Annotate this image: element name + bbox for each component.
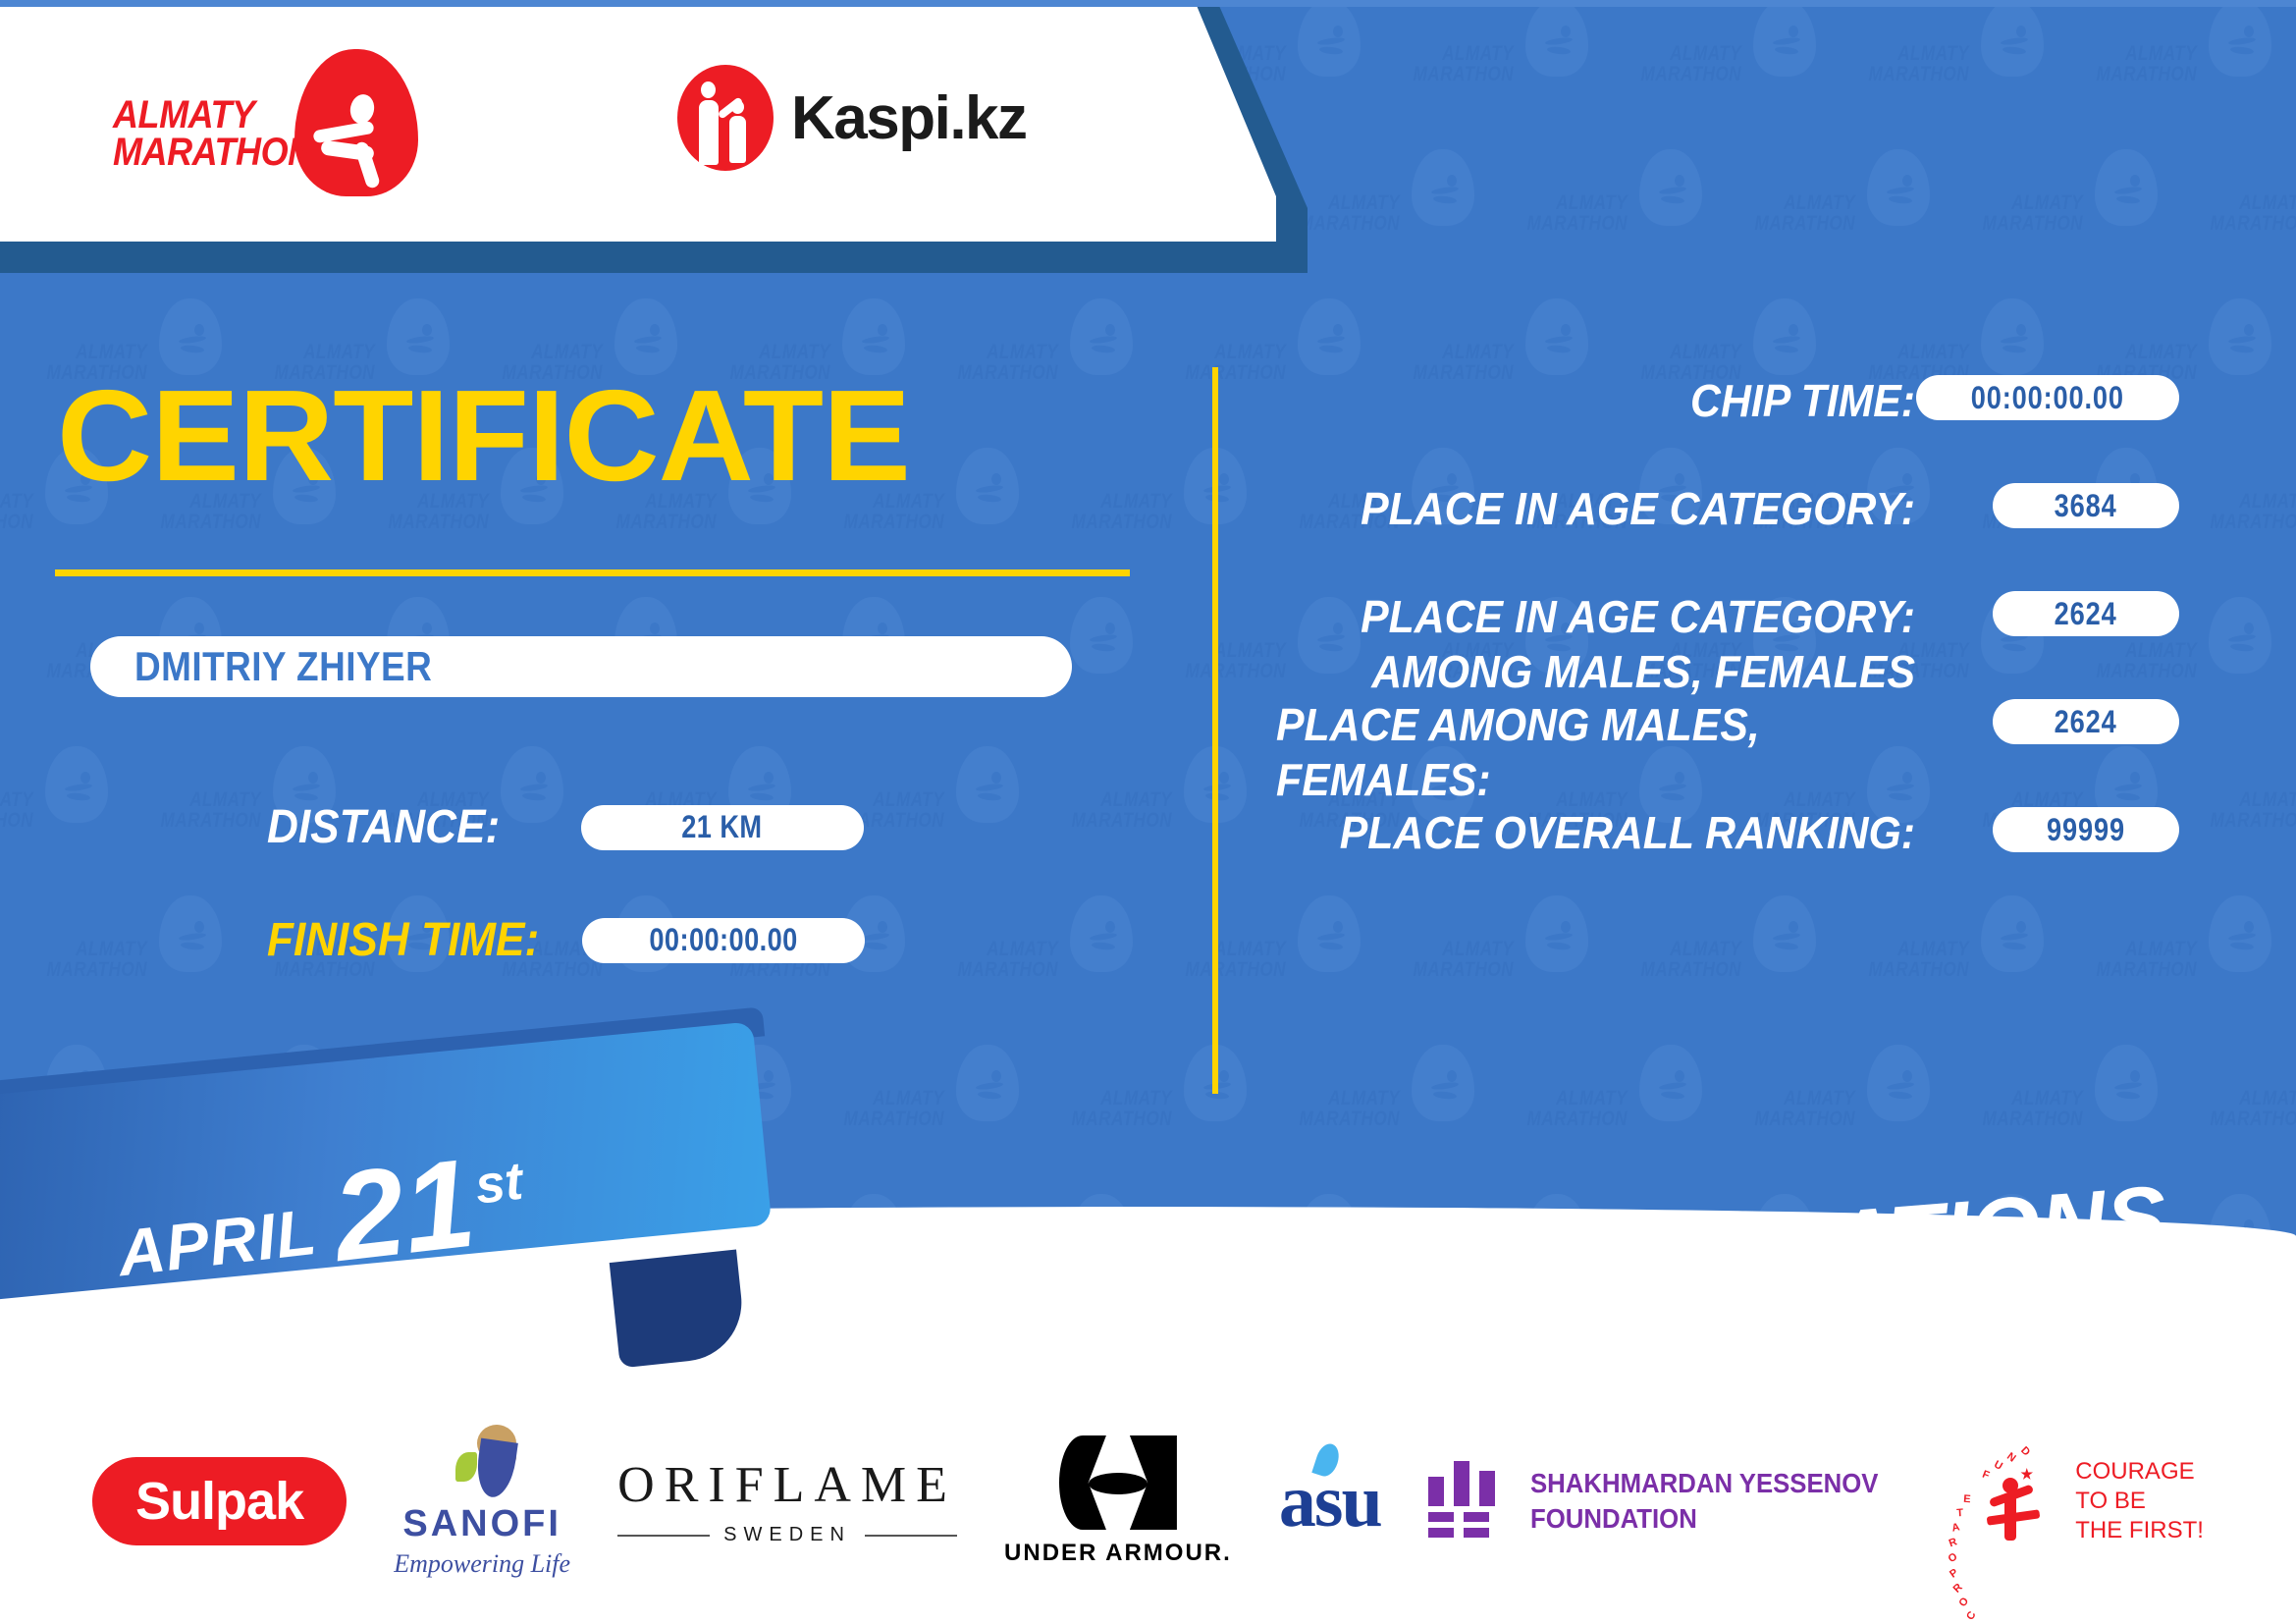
watermark-tile: ALMATYMARATHON [1480, 149, 1706, 297]
oriflame-wordmark: ORIFLAME [617, 1456, 957, 1514]
almaty-marathon-wordmark: ALMATY MARATHON [113, 96, 281, 171]
place-overall-value: 99999 [2047, 812, 2125, 848]
watermark-tile: ALMATYMARATHON [1594, 895, 1820, 1043]
watermark-tile: ALMATYMARATHON [2050, 0, 2275, 147]
watermark-tile: ALMATYMARATHON [911, 298, 1137, 446]
kaspi-people-icon [677, 65, 774, 171]
watermark-tile: ALMATYMARATHON [911, 895, 1137, 1043]
place-among-gender-label: PLACE AMONG MALES, FEMALES: [1276, 697, 1915, 807]
watermark-tile: ALMATYMARATHON [0, 895, 226, 1043]
distance-label: DISTANCE: [267, 800, 500, 854]
watermark-tile: ALMATYMARATHON [1594, 0, 1820, 147]
sponsor-bar: Sulpak SANOFI Empowering Life ORIFLAME S… [0, 1379, 2296, 1624]
courage-line-3: THE FIRST! [2075, 1516, 2204, 1545]
oriflame-country: SWEDEN [723, 1524, 851, 1546]
place-age-category-label: PLACE IN AGE CATEGORY: [1276, 481, 1915, 536]
sulpak-wordmark: Sulpak [92, 1457, 347, 1545]
courage-fund-icon: CORPORATE FUND [1955, 1448, 2061, 1554]
place-age-category-value: 3684 [2055, 488, 2117, 524]
courage-line-1: COURAGE [2075, 1457, 2204, 1487]
watermark-tile: ALMATYMARATHON [1366, 895, 1592, 1043]
watermark-tile: ALMATYMARATHON [1936, 149, 2162, 297]
chip-time-value-pill: 00:00:00.00 [1916, 375, 2179, 420]
event-day: 21 [329, 1151, 480, 1272]
place-age-category-gender-value: 2624 [2055, 596, 2117, 632]
watermark-tile: ALMATYMARATHON [2163, 448, 2296, 595]
yessenov-icon [1428, 1461, 1509, 1542]
place-among-gender-value: 2624 [2055, 704, 2117, 740]
finish-time-value-pill: 00:00:00.00 [582, 918, 865, 963]
asu-wordmark: asu [1279, 1459, 1381, 1544]
courage-runner-icon [1989, 1468, 2038, 1544]
logo-line-2: MARATHON [113, 134, 281, 171]
watermark-tile: ALMATYMARATHON [2163, 149, 2296, 297]
watermark-tile: ALMATYMARATHON [1822, 895, 2048, 1043]
place-age-category-value-pill: 3684 [1993, 483, 2179, 528]
oriflame-rule-left [617, 1535, 710, 1537]
page-title: CERTIFICATE [57, 371, 910, 501]
oriflame-subline: SWEDEN [617, 1524, 957, 1546]
watermark-tile: ALMATYMARATHON [0, 746, 112, 893]
kaspi-logo: Kaspi.kz [677, 59, 1027, 177]
sponsor-yessenov-foundation: SHAKHMARDAN YESSENOV FOUNDATION [1428, 1461, 1908, 1542]
event-day-suffix: st [472, 1151, 526, 1217]
under-armour-wordmark: UNDER ARMOUR. [1004, 1540, 1232, 1567]
place-age-category-gender-label: PLACE IN AGE CATEGORY: AMONG MALES, FEMA… [1276, 589, 1915, 699]
participant-name-field: DMITRIY ZHIYER [90, 636, 1072, 697]
yessenov-line-2: FOUNDATION [1530, 1501, 1879, 1537]
sanofi-icon [448, 1425, 516, 1497]
title-underline [55, 569, 1130, 576]
sponsor-sulpak: Sulpak [92, 1457, 347, 1545]
place-among-gender-label-line1: PLACE AMONG MALES, [1276, 697, 1915, 752]
place-among-gender-value-pill: 2624 [1993, 699, 2179, 744]
distance-row: DISTANCE: 21 KM [267, 800, 864, 854]
under-armour-icon [1059, 1435, 1177, 1530]
logo-line-1: ALMATY [113, 96, 281, 134]
runner-figure-icon [305, 94, 394, 183]
place-age-category-gender-label-line1: PLACE IN AGE CATEGORY: [1276, 589, 1915, 644]
watermark-tile: ALMATYMARATHON [1708, 149, 1934, 297]
sanofi-wordmark: SANOFI [402, 1503, 561, 1545]
column-divider [1212, 367, 1218, 1094]
courage-fund-wordmark: COURAGE TO BE THE FIRST! [2075, 1457, 2204, 1545]
distance-value: 21 KM [682, 809, 763, 845]
sponsor-oriflame: ORIFLAME SWEDEN [617, 1456, 957, 1546]
place-overall-value-pill: 99999 [1993, 807, 2179, 852]
watermark-tile: ALMATYMARATHON [2277, 0, 2296, 147]
watermark-tile: ALMATYMARATHON [2277, 597, 2296, 744]
result-row-chip-time: CHIP TIME: 00:00:00.00 [1276, 373, 2179, 444]
yessenov-line-1: SHAKHMARDAN YESSENOV [1530, 1466, 1879, 1501]
distance-value-pill: 21 KM [581, 805, 864, 850]
watermark-tile: ALMATYMARATHON [1139, 895, 1364, 1043]
chip-time-label: CHIP TIME: [1276, 373, 1915, 428]
courage-line-2: TO BE [2075, 1487, 2204, 1516]
watermark-tile: ALMATYMARATHON [2050, 895, 2275, 1043]
place-overall-label: PLACE OVERALL RANKING: [1276, 805, 1915, 860]
participant-name-value: DMITRIY ZHIYER [134, 643, 432, 690]
finish-time-label: FINISH TIME: [267, 913, 539, 967]
result-row-place-overall: PLACE OVERALL RANKING: 99999 [1276, 805, 2179, 876]
watermark-tile: ALMATYMARATHON [1366, 0, 1592, 147]
almaty-marathon-logo: ALMATY MARATHON [113, 47, 437, 189]
result-row-place-among-gender: PLACE AMONG MALES, FEMALES: 2624 [1276, 697, 2179, 768]
watermark-tile: ALMATYMARATHON [2163, 746, 2296, 893]
chip-time-value: 00:00:00.00 [1971, 380, 2124, 416]
finish-time-row: FINISH TIME: 00:00:00.00 [267, 913, 865, 967]
header-logos: ALMATY MARATHON Kaspi.kz [0, 0, 1217, 245]
sponsor-sanofi: SANOFI Empowering Life [394, 1425, 570, 1579]
sanofi-tagline: Empowering Life [394, 1549, 570, 1579]
oriflame-rule-right [865, 1535, 957, 1537]
place-among-gender-label-line2: FEMALES: [1276, 752, 1915, 807]
result-row-place-age-category: PLACE IN AGE CATEGORY: 3684 [1276, 481, 2179, 552]
watermark-tile: ALMATYMARATHON [2277, 298, 2296, 446]
place-age-category-gender-value-pill: 2624 [1993, 591, 2179, 636]
sponsor-under-armour: UNDER ARMOUR. [1004, 1435, 1232, 1567]
place-age-category-gender-label-line2: AMONG MALES, FEMALES [1276, 644, 1915, 699]
watermark-tile: ALMATYMARATHON [2277, 895, 2296, 1043]
sponsor-asu: asu [1279, 1459, 1381, 1544]
event-ribbon: RUN FOR SENSATIONS APRIL 21 st [0, 1089, 2296, 1374]
finish-time-value: 00:00:00.00 [650, 922, 798, 958]
sponsor-courage-fund: CORPORATE FUND COURAGE TO BE THE FIRST! [1955, 1448, 2204, 1554]
yessenov-wordmark: SHAKHMARDAN YESSENOV FOUNDATION [1530, 1466, 1879, 1537]
results-panel: CHIP TIME: 00:00:00.00 PLACE IN AGE CATE… [1276, 373, 2179, 913]
result-row-place-age-category-gender: PLACE IN AGE CATEGORY: AMONG MALES, FEMA… [1276, 589, 2179, 660]
certificate-canvas: ALMATYMARATHONALMATYMARATHONALMATYMARATH… [0, 0, 2296, 1624]
kaspi-wordmark: Kaspi.kz [791, 83, 1027, 153]
watermark-tile: ALMATYMARATHON [1822, 0, 2048, 147]
